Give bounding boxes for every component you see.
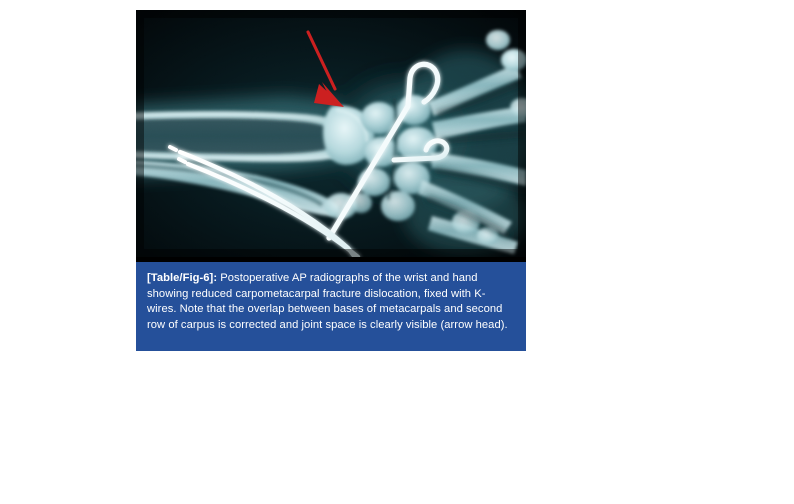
radiograph-image xyxy=(136,10,526,257)
figure-caption-text: [Table/Fig-6]: Postoperative AP radiogra… xyxy=(147,271,515,333)
figure-block: [Table/Fig-6]: Postoperative AP radiogra… xyxy=(136,10,526,351)
film-grain xyxy=(136,10,526,257)
figure-caption-box: [Table/Fig-6]: Postoperative AP radiogra… xyxy=(136,262,526,351)
figure-caption-label: [Table/Fig-6]: xyxy=(147,272,217,284)
radiograph-svg xyxy=(136,10,526,257)
